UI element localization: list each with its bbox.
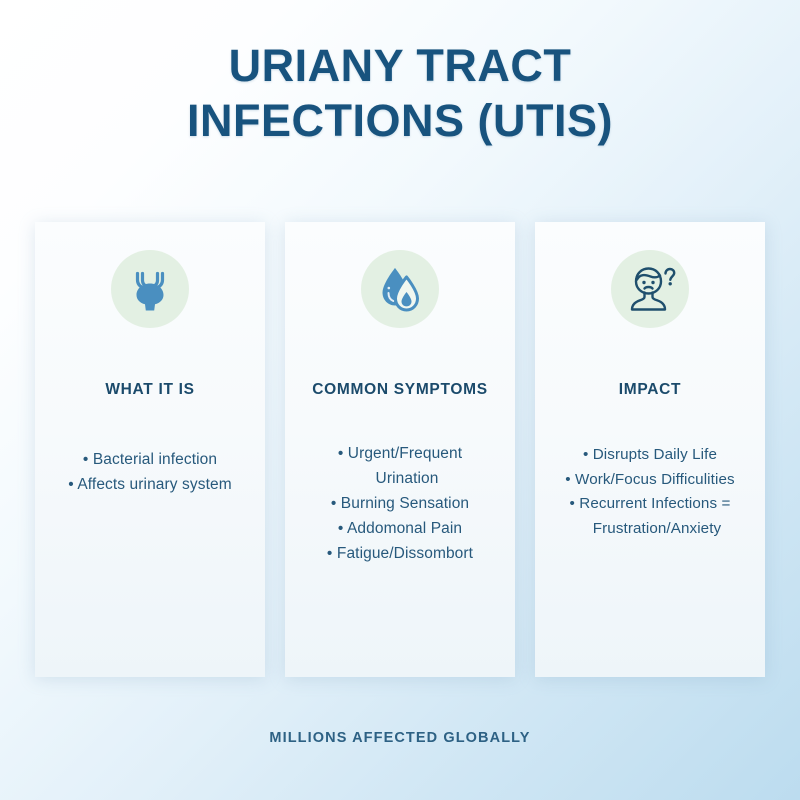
card-heading: COMMON SYMPTOMS bbox=[312, 381, 488, 399]
card-common-symptoms: COMMON SYMPTOMS • Urgent/Frequent Urinat… bbox=[285, 222, 515, 677]
bullet-text-continuation: Urination bbox=[297, 466, 503, 491]
bullet-text-continuation: Frustration/Anxiety bbox=[547, 517, 753, 542]
bullet-text: Recurrent Infections = bbox=[579, 495, 730, 512]
infographic-poster: URIANY TRACT INFECTIONS (UTIS) WHAT IT I… bbox=[0, 0, 800, 800]
list-item: • Addomonal Pain bbox=[297, 516, 503, 541]
worried-person-icon bbox=[611, 250, 689, 328]
bullet-text: Affects urinary system bbox=[77, 476, 231, 493]
bullet-dot: • bbox=[565, 471, 570, 488]
water-droplets-icon bbox=[361, 250, 439, 328]
bladder-icon bbox=[111, 250, 189, 328]
page-title: URIANY TRACT INFECTIONS (UTIS) bbox=[0, 38, 800, 149]
bullet-dot: • bbox=[68, 476, 74, 493]
bullet-text: Work/Focus Difficulities bbox=[575, 471, 735, 488]
bullet-text: Burning Sensation bbox=[341, 495, 469, 512]
title-line-2: INFECTIONS (UTIS) bbox=[0, 93, 800, 148]
bullet-list: • Urgent/Frequent Urination • Burning Se… bbox=[297, 441, 503, 567]
list-item: • Burning Sensation bbox=[297, 491, 503, 516]
list-item: • Urgent/Frequent Urination bbox=[297, 441, 503, 491]
bullet-text: Addomonal Pain bbox=[347, 520, 462, 537]
bullet-dot: • bbox=[583, 446, 588, 463]
bullet-list: • Bacterial infection • Affects urinary … bbox=[47, 447, 253, 497]
bullet-list: • Disrupts Daily Life • Work/Focus Diffi… bbox=[547, 443, 753, 542]
bullet-text: Disrupts Daily Life bbox=[593, 446, 717, 463]
bullet-dot: • bbox=[338, 445, 344, 462]
card-what-it-is: WHAT IT IS • Bacterial infection • Affec… bbox=[35, 222, 265, 677]
list-item: • Bacterial infection bbox=[47, 447, 253, 472]
card-impact: IMPACT • Disrupts Daily Life • Work/Focu… bbox=[535, 222, 765, 677]
list-item: • Work/Focus Difficulities bbox=[547, 468, 753, 493]
bullet-dot: • bbox=[327, 545, 333, 562]
bullet-dot: • bbox=[570, 495, 575, 512]
bullet-text: Bacterial infection bbox=[93, 451, 217, 468]
title-line-1: URIANY TRACT bbox=[0, 38, 800, 93]
footer-caption: MILLIONS AFFECTED GLOBALLY bbox=[0, 730, 800, 746]
bullet-dot: • bbox=[83, 451, 89, 468]
bullet-text: Fatigue/Dissombort bbox=[337, 545, 473, 562]
list-item: • Fatigue/Dissombort bbox=[297, 541, 503, 566]
list-item: • Disrupts Daily Life bbox=[547, 443, 753, 468]
bullet-dot: • bbox=[338, 520, 344, 537]
card-heading: WHAT IT IS bbox=[105, 381, 194, 399]
list-item: • Affects urinary system bbox=[47, 472, 253, 497]
list-item: • Recurrent Infections = Frustration/Anx… bbox=[547, 492, 753, 541]
card-heading: IMPACT bbox=[619, 381, 681, 399]
bullet-text: Urgent/Frequent bbox=[348, 445, 462, 462]
bullet-dot: • bbox=[331, 495, 337, 512]
cards-row: WHAT IT IS • Bacterial infection • Affec… bbox=[35, 222, 765, 677]
